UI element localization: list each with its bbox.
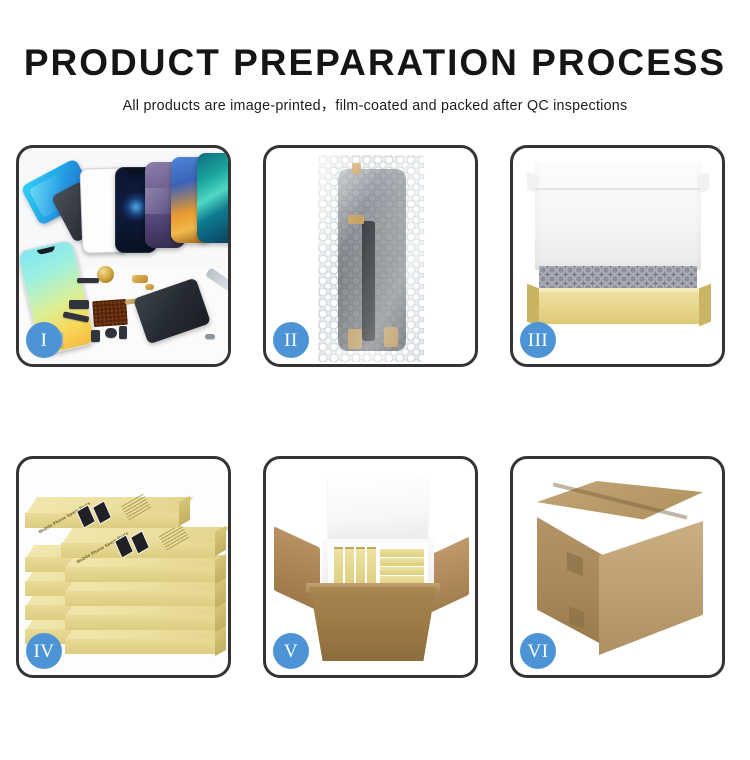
retail-box-printed-item: Mobile Phone Spare Parts: [25, 497, 181, 527]
step-badge-6: VI: [520, 633, 556, 669]
logic-board-icon: [92, 299, 128, 327]
page-subtitle: All products are image-printed，film-coat…: [0, 83, 750, 115]
step-panel-3[interactable]: III: [510, 145, 725, 367]
step-panel-2[interactable]: II: [263, 145, 478, 367]
product-preparation-infographic: PRODUCT PREPARATION PROCESS All products…: [0, 0, 750, 750]
header: PRODUCT PREPARATION PROCESS All products…: [0, 0, 750, 115]
mailer-lid-icon: [535, 162, 701, 270]
yellow-box-item: [367, 547, 376, 587]
retail-box-item: [65, 555, 217, 581]
mailer-side-right: [699, 284, 711, 327]
foam-lid-icon: [328, 477, 428, 543]
sealed-carton-icon: [537, 481, 703, 653]
bubble-wrap-bag-icon: [318, 155, 424, 362]
earpiece-chip-icon: [77, 278, 99, 283]
mailer-rim: [531, 288, 707, 292]
retail-box-item: [65, 579, 217, 605]
process-row-bottom: Mobile Phone Spare Parts Mobile Phone Sp…: [0, 449, 750, 760]
carton-body-icon: [310, 587, 436, 661]
step-badge-2: II: [273, 322, 309, 358]
step-panel-5[interactable]: V: [263, 456, 478, 678]
carton-right-face: [599, 521, 703, 655]
speaker-coil-icon: [97, 266, 114, 283]
process-row-top: I II: [0, 138, 750, 449]
lid-tab-right: [697, 172, 709, 193]
step-panel-1[interactable]: I: [16, 145, 231, 367]
retail-box-printed-item: Mobile Phone Spare Parts: [61, 527, 217, 557]
plastic-sheen-overlay: [318, 155, 424, 362]
yellow-box-item: [380, 567, 424, 575]
retail-box-item: [65, 603, 217, 629]
yellow-box-item: [380, 558, 424, 566]
step-badge-4: IV: [26, 633, 62, 669]
step-panel-6[interactable]: VI: [510, 456, 725, 678]
gold-bracket-icon: [145, 284, 154, 290]
camera-module-icon: [91, 330, 100, 342]
grey-foam-padding-icon: [539, 266, 697, 290]
step-panel-4[interactable]: Mobile Phone Spare Parts Mobile Phone Sp…: [16, 456, 231, 678]
page-title: PRODUCT PREPARATION PROCESS: [0, 0, 750, 83]
sim-tray-icon: [119, 326, 127, 339]
yellow-box-item: [345, 547, 354, 587]
mailer-base-icon: [531, 288, 707, 324]
yellow-box-item: [334, 547, 343, 587]
small-chip-icon: [69, 300, 89, 309]
process-step-grid: I II: [0, 138, 750, 760]
carton-left-face: [537, 509, 603, 645]
yellow-box-item: [356, 547, 365, 587]
phone-teal-icon: [197, 153, 228, 243]
step-badge-5: V: [273, 633, 309, 669]
screw-set-icon: [205, 334, 215, 339]
phone-notch-icon: [128, 170, 144, 174]
step-badge-3: III: [520, 322, 556, 358]
step-badge-1: I: [26, 322, 62, 358]
retail-box-item: [65, 627, 217, 653]
mailer-side-left: [527, 284, 539, 327]
vibrator-icon: [105, 328, 117, 338]
lid-fold-line: [535, 188, 701, 190]
yellow-box-item: [380, 549, 424, 557]
lid-tab-left: [527, 172, 539, 193]
gold-flex-icon: [132, 275, 148, 283]
